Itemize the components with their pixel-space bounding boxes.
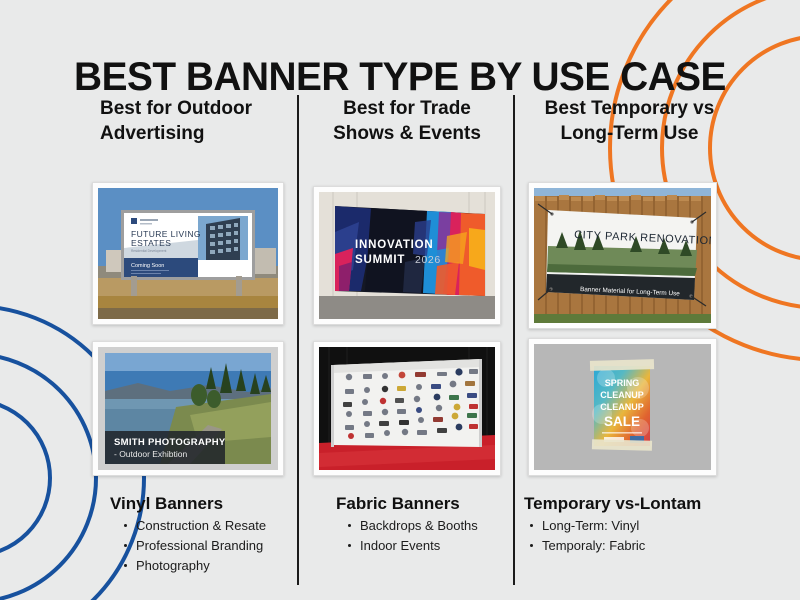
column-heading-temporary: Best Temporary vs Long-Term Use — [522, 96, 737, 147]
image-billboard-future-living: FUTURE LIVING ESTATES Residential Develo… — [92, 182, 284, 325]
infographic-canvas: BEST BANNER TYPE BY USE CASE Best for Ou… — [0, 0, 800, 600]
image-city-park-renovation-banner: CITY PARK RENOVATION Banner Material for… — [528, 182, 717, 329]
svg-text:INNOVATION: INNOVATION — [355, 239, 434, 251]
svg-text:CLEANUP: CLEANUP — [600, 402, 644, 412]
column-heading-trade-shows: Best for Trade Shows & Events — [312, 96, 502, 147]
page-title: BEST BANNER TYPE BY USE CASE — [12, 55, 788, 100]
column-trade-shows: Best for Trade Shows & Events — [312, 96, 502, 147]
svg-text:SMITH PHOTOGRAPHY: SMITH PHOTOGRAPHY — [114, 437, 226, 448]
column-outdoor-advertising: Best for Outdoor Advertising — [80, 96, 290, 147]
list-item: Professional Branding — [124, 536, 310, 556]
list-item: Temporaly: Fabric — [530, 536, 754, 556]
column-heading-outdoor: Best for Outdoor Advertising — [80, 96, 290, 147]
image-smith-photography-banner: SMITH PHOTOGRAPHY - Outdoor Exhibtion — [92, 341, 284, 476]
footer-trade-shows: Fabric Banners Backdrops & Booths Indoor… — [336, 494, 536, 556]
svg-text:Residential Development: Residential Development — [131, 249, 167, 253]
svg-text:- Outdoor Exhibtion: - Outdoor Exhibtion — [114, 449, 188, 459]
list-item: Long-Term: Vinyl — [530, 516, 754, 536]
footer-title-fabric: Fabric Banners — [336, 494, 536, 514]
footer-temporary-vs-long-term: Temporary vs-Lontam Long-Term: Vinyl Tem… — [524, 494, 754, 556]
footer-bullets-temporary: Long-Term: Vinyl Temporaly: Fabric — [524, 516, 754, 556]
footer-title-temporary: Temporary vs-Lontam — [524, 494, 754, 514]
list-item: Indoor Events — [348, 536, 536, 556]
list-item: Construction & Resate — [124, 516, 310, 536]
svg-text:ESTATES: ESTATES — [131, 238, 171, 248]
list-item: Photography — [124, 556, 310, 576]
footer-bullets-vinyl: Construction & Resate Professional Brand… — [110, 516, 310, 575]
svg-text:SUMMIT: SUMMIT — [355, 254, 405, 266]
svg-text:SPRING: SPRING — [605, 378, 640, 388]
image-step-and-repeat-backdrop — [313, 341, 501, 476]
footer-title-vinyl: Vinyl Banners — [110, 494, 310, 514]
footer-bullets-fabric: Backdrops & Booths Indoor Events — [336, 516, 536, 556]
svg-text:Coming Soon: Coming Soon — [131, 263, 164, 269]
svg-text:CLEANUP: CLEANUP — [600, 390, 644, 400]
svg-text:SALE: SALE — [604, 414, 640, 429]
image-innovation-summit-backdrop: INNOVATION SUMMIT 2026 — [313, 186, 501, 325]
footer-outdoor-advertising: Vinyl Banners Construction & Resate Prof… — [110, 494, 310, 575]
list-item: Backdrops & Booths — [348, 516, 536, 536]
svg-text:2026: 2026 — [415, 254, 441, 266]
column-temporary-vs-long-term: Best Temporary vs Long-Term Use — [522, 96, 737, 147]
image-spring-cleanup-sale-poster: SPRING CLEANUP CLEANUP SALE — [528, 338, 717, 476]
